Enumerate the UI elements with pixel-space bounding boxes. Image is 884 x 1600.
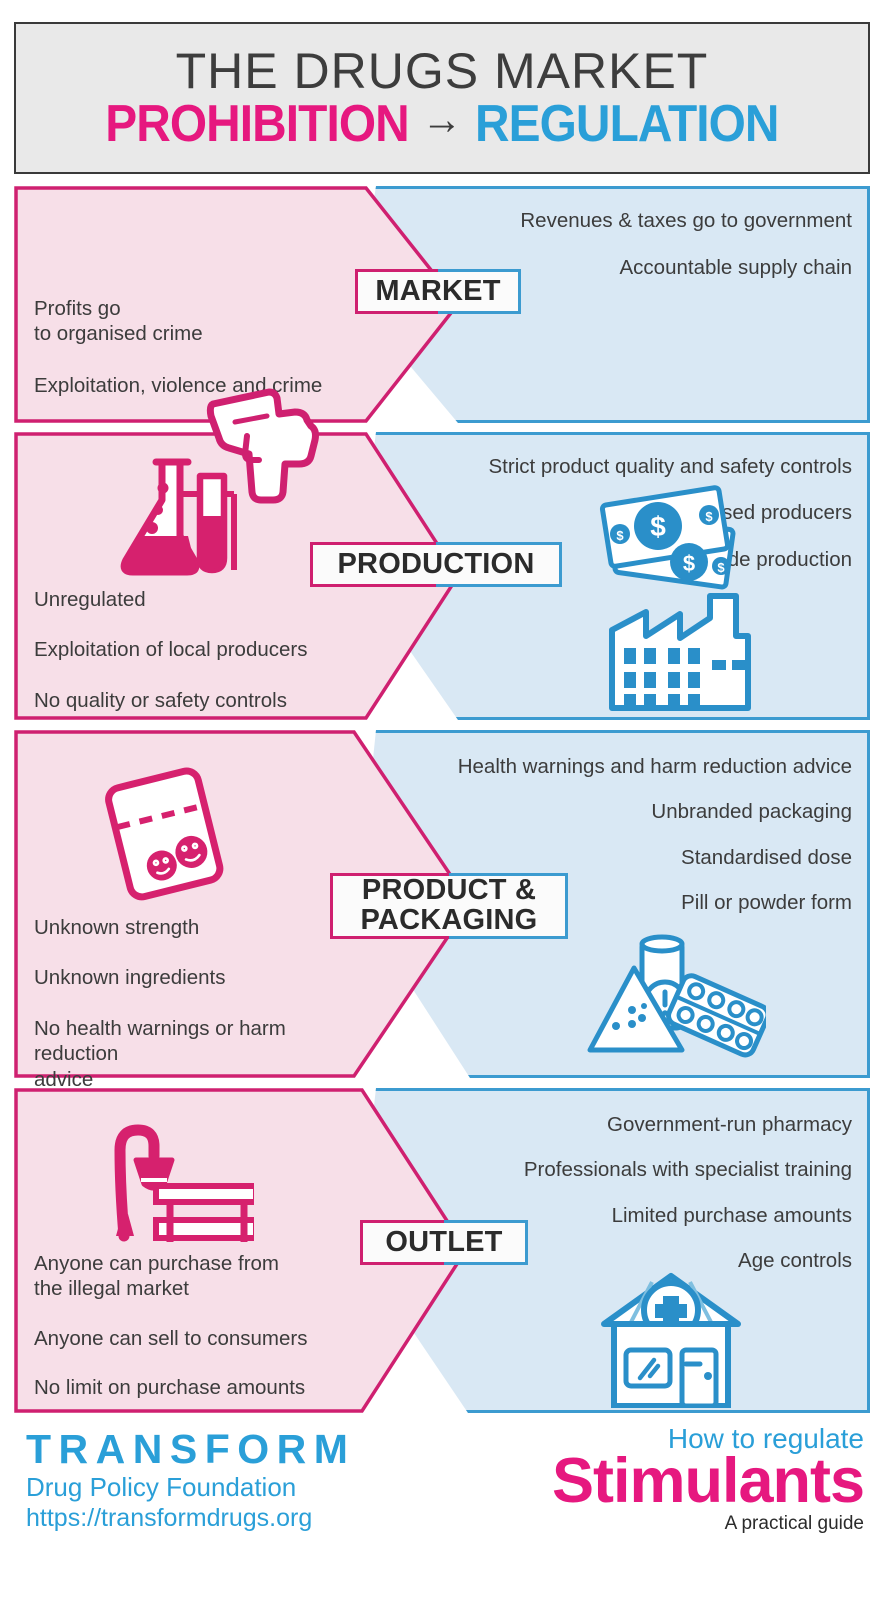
list-item: No quality or safety controls (34, 688, 334, 713)
list-item: Unknown strength (34, 915, 364, 940)
section-label-text: OUTLET (385, 1228, 502, 1258)
svg-text:$: $ (683, 551, 695, 576)
prohibition-points-production: Unregulated Exploitation of local produc… (34, 587, 334, 713)
list-item: Anyone can purchase from the illegal mar… (34, 1251, 354, 1302)
list-item: Professionals with specialist training (372, 1157, 852, 1182)
section-label-text: PRODUCTION (338, 550, 535, 580)
brand-subtitle: Drug Policy Foundation (26, 1472, 355, 1503)
list-item: Unregulated (34, 587, 334, 612)
pharmacy-shop-icon (596, 1268, 746, 1413)
section-label-text-line1: PRODUCT & (362, 876, 536, 906)
svg-text:$: $ (616, 528, 624, 543)
section-product-packaging: Unknown strength Unknown ingredients No … (14, 730, 870, 1078)
section-outlet: Anyone can purchase from the illegal mar… (14, 1088, 870, 1413)
list-item: Strict product quality and safety contro… (372, 454, 852, 479)
header-banner: THE DRUGS MARKET PROHIBITION → REGULATIO… (14, 22, 870, 174)
list-item: Unbranded packaging (372, 799, 852, 824)
header-word-prohibition: PROHIBITION (105, 98, 409, 150)
svg-text:$: $ (717, 560, 725, 575)
right-arrow-icon: → (422, 98, 462, 142)
section-label-market: MARKET (355, 269, 521, 314)
section-market: Profits go to organised crime Exploitati… (14, 186, 870, 423)
prohibition-points-outlet: Anyone can purchase from the illegal mar… (34, 1251, 354, 1401)
prohibition-points-product-packaging: Unknown strength Unknown ingredients No … (34, 915, 364, 1092)
list-item: No health warnings or harm reduction adv… (34, 1016, 364, 1092)
transform-logo: TRANSFORM Drug Policy Foundation https:/… (26, 1428, 355, 1533)
list-item: Unknown ingredients (34, 965, 364, 990)
drug-baggie-pills-icon (92, 766, 237, 906)
section-label-product-packaging: PRODUCT & PACKAGING (330, 873, 568, 939)
brand-name: TRANSFORM (26, 1428, 355, 1471)
list-item: Anyone can sell to consumers (34, 1326, 354, 1351)
guide-subtitle: A practical guide (552, 1514, 864, 1535)
section-label-outlet: OUTLET (360, 1220, 528, 1265)
list-item: Profits go to organised crime (34, 296, 334, 347)
guide-title-block: How to regulate Stimulants A practical g… (552, 1424, 864, 1535)
svg-text:$: $ (650, 511, 666, 542)
banknotes-dollar-icon: $ $ $ $ $ (596, 482, 746, 599)
page-title: THE DRUGS MARKET (176, 46, 709, 96)
header-subtitle: PROHIBITION → REGULATION (105, 98, 778, 150)
powder-pills-blister-icon (586, 926, 766, 1071)
list-item: Health warnings and harm reduction advic… (372, 754, 852, 779)
svg-text:$: $ (705, 509, 713, 524)
list-item: Standardised dose (372, 845, 852, 870)
section-label-text: MARKET (375, 277, 500, 307)
list-item: No limit on purchase amounts (34, 1375, 354, 1400)
factory-icon (606, 590, 756, 718)
flask-test-tube-icon (106, 454, 246, 584)
section-label-text-line2: PACKAGING (361, 906, 538, 936)
section-label-production: PRODUCTION (310, 542, 562, 587)
infographic-page: THE DRUGS MARKET PROHIBITION → REGULATIO… (0, 0, 884, 1600)
footer: TRANSFORM Drug Policy Foundation https:/… (0, 1418, 884, 1600)
street-lamp-bench-icon (94, 1110, 254, 1247)
list-item: Government-run pharmacy (372, 1112, 852, 1137)
brand-url-link[interactable]: https://transformdrugs.org (26, 1504, 355, 1534)
list-item: Revenues & taxes go to government (372, 208, 852, 233)
list-item: Exploitation of local producers (34, 637, 334, 662)
header-word-regulation: REGULATION (475, 98, 779, 150)
guide-title: Stimulants (552, 1451, 864, 1513)
